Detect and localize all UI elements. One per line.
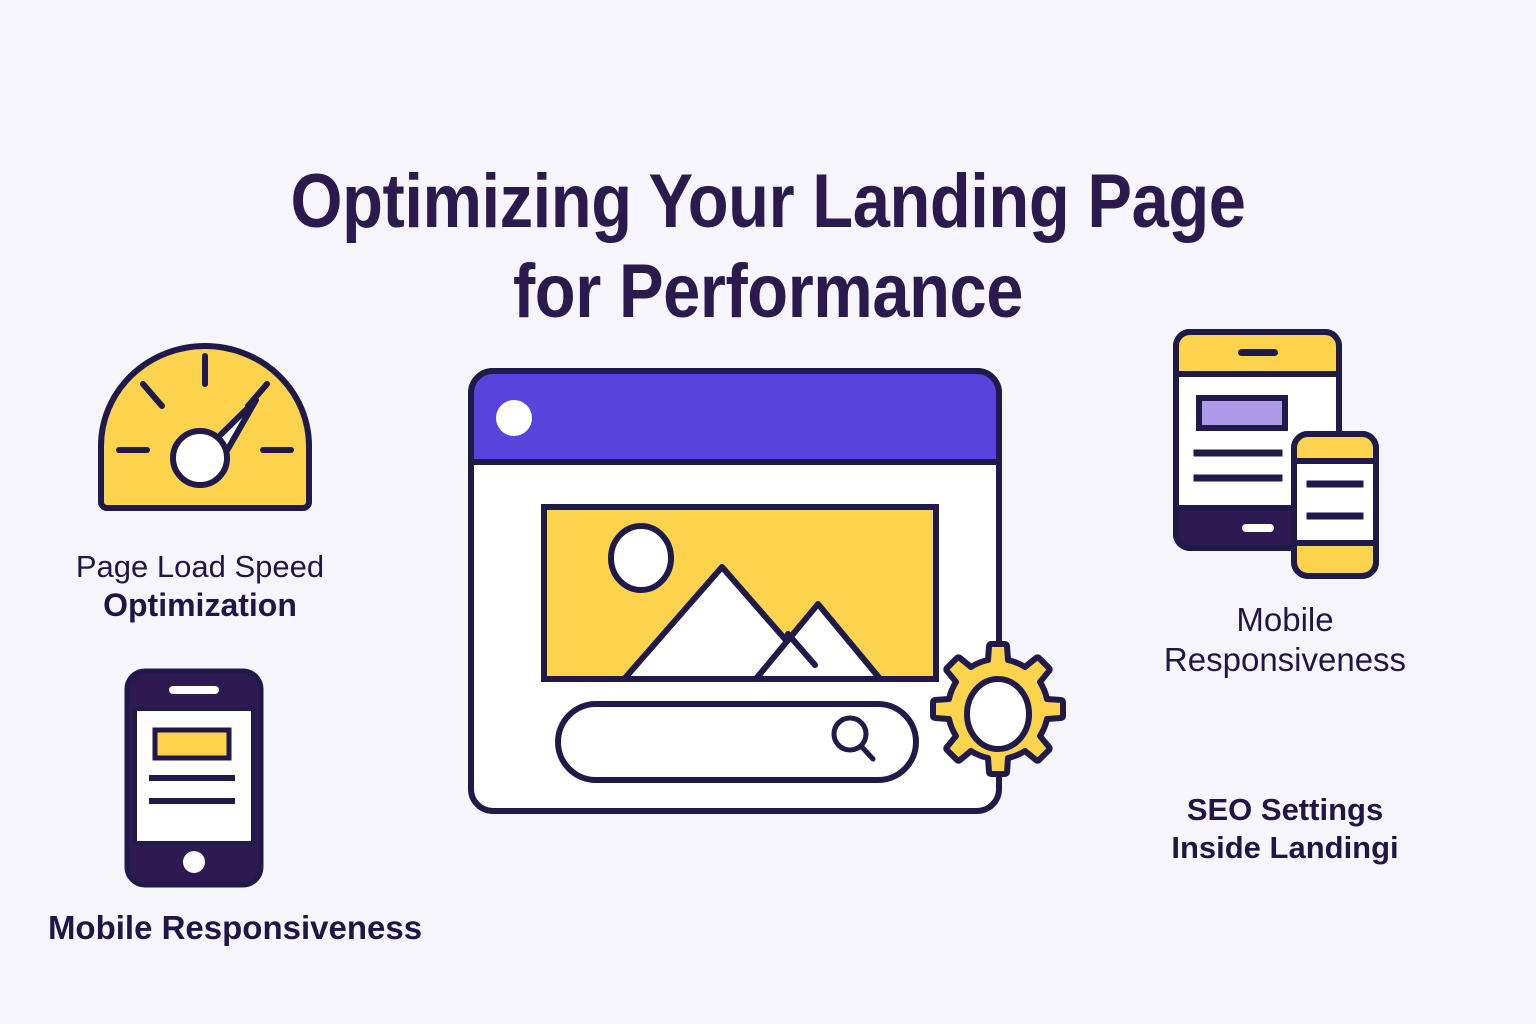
browser-window-illustration [466,366,1096,826]
search-bar [558,704,916,780]
image-placeholder-mountains [544,507,936,686]
mobile-responsiveness-right-label-line-1: Mobile [1090,600,1480,640]
seo-settings-label-line-2: Inside Landingi [1090,829,1480,867]
browser-titlebar [471,371,999,462]
page-title: Optimizing Your Landing Page for Perform… [92,157,1444,336]
tablet-and-phone-icon [1172,328,1400,596]
tablet-speaker [1238,349,1278,356]
infographic-canvas: Optimizing Your Landing Page for Perform… [0,0,1536,1024]
mobile-responsiveness-right-label-line-2: Responsiveness [1090,640,1480,680]
gear-icon [933,644,1063,774]
seo-settings-label-line-1: SEO Settings [1090,791,1480,829]
mobile-responsiveness-left-label: Mobile Responsiveness [0,908,475,948]
phone-icon [1294,434,1376,576]
tablet-home-indicator [1242,524,1274,532]
speedometer-icon [95,336,315,508]
page-title-line-2: for Performance [92,247,1444,337]
seo-settings-label: SEO Settings Inside Landingi [1090,791,1480,867]
phone-speaker [169,686,219,694]
smartphone-icon [124,668,264,888]
page-load-speed-label-line-1: Page Load Speed [20,548,380,586]
page-title-line-1: Optimizing Your Landing Page [92,157,1444,247]
window-dot [496,400,532,436]
page-load-speed-label: Page Load Speed Optimization [20,548,380,625]
mobile-responsiveness-right-label: Mobile Responsiveness [1090,600,1480,681]
page-load-speed-label-line-2: Optimization [20,586,380,625]
